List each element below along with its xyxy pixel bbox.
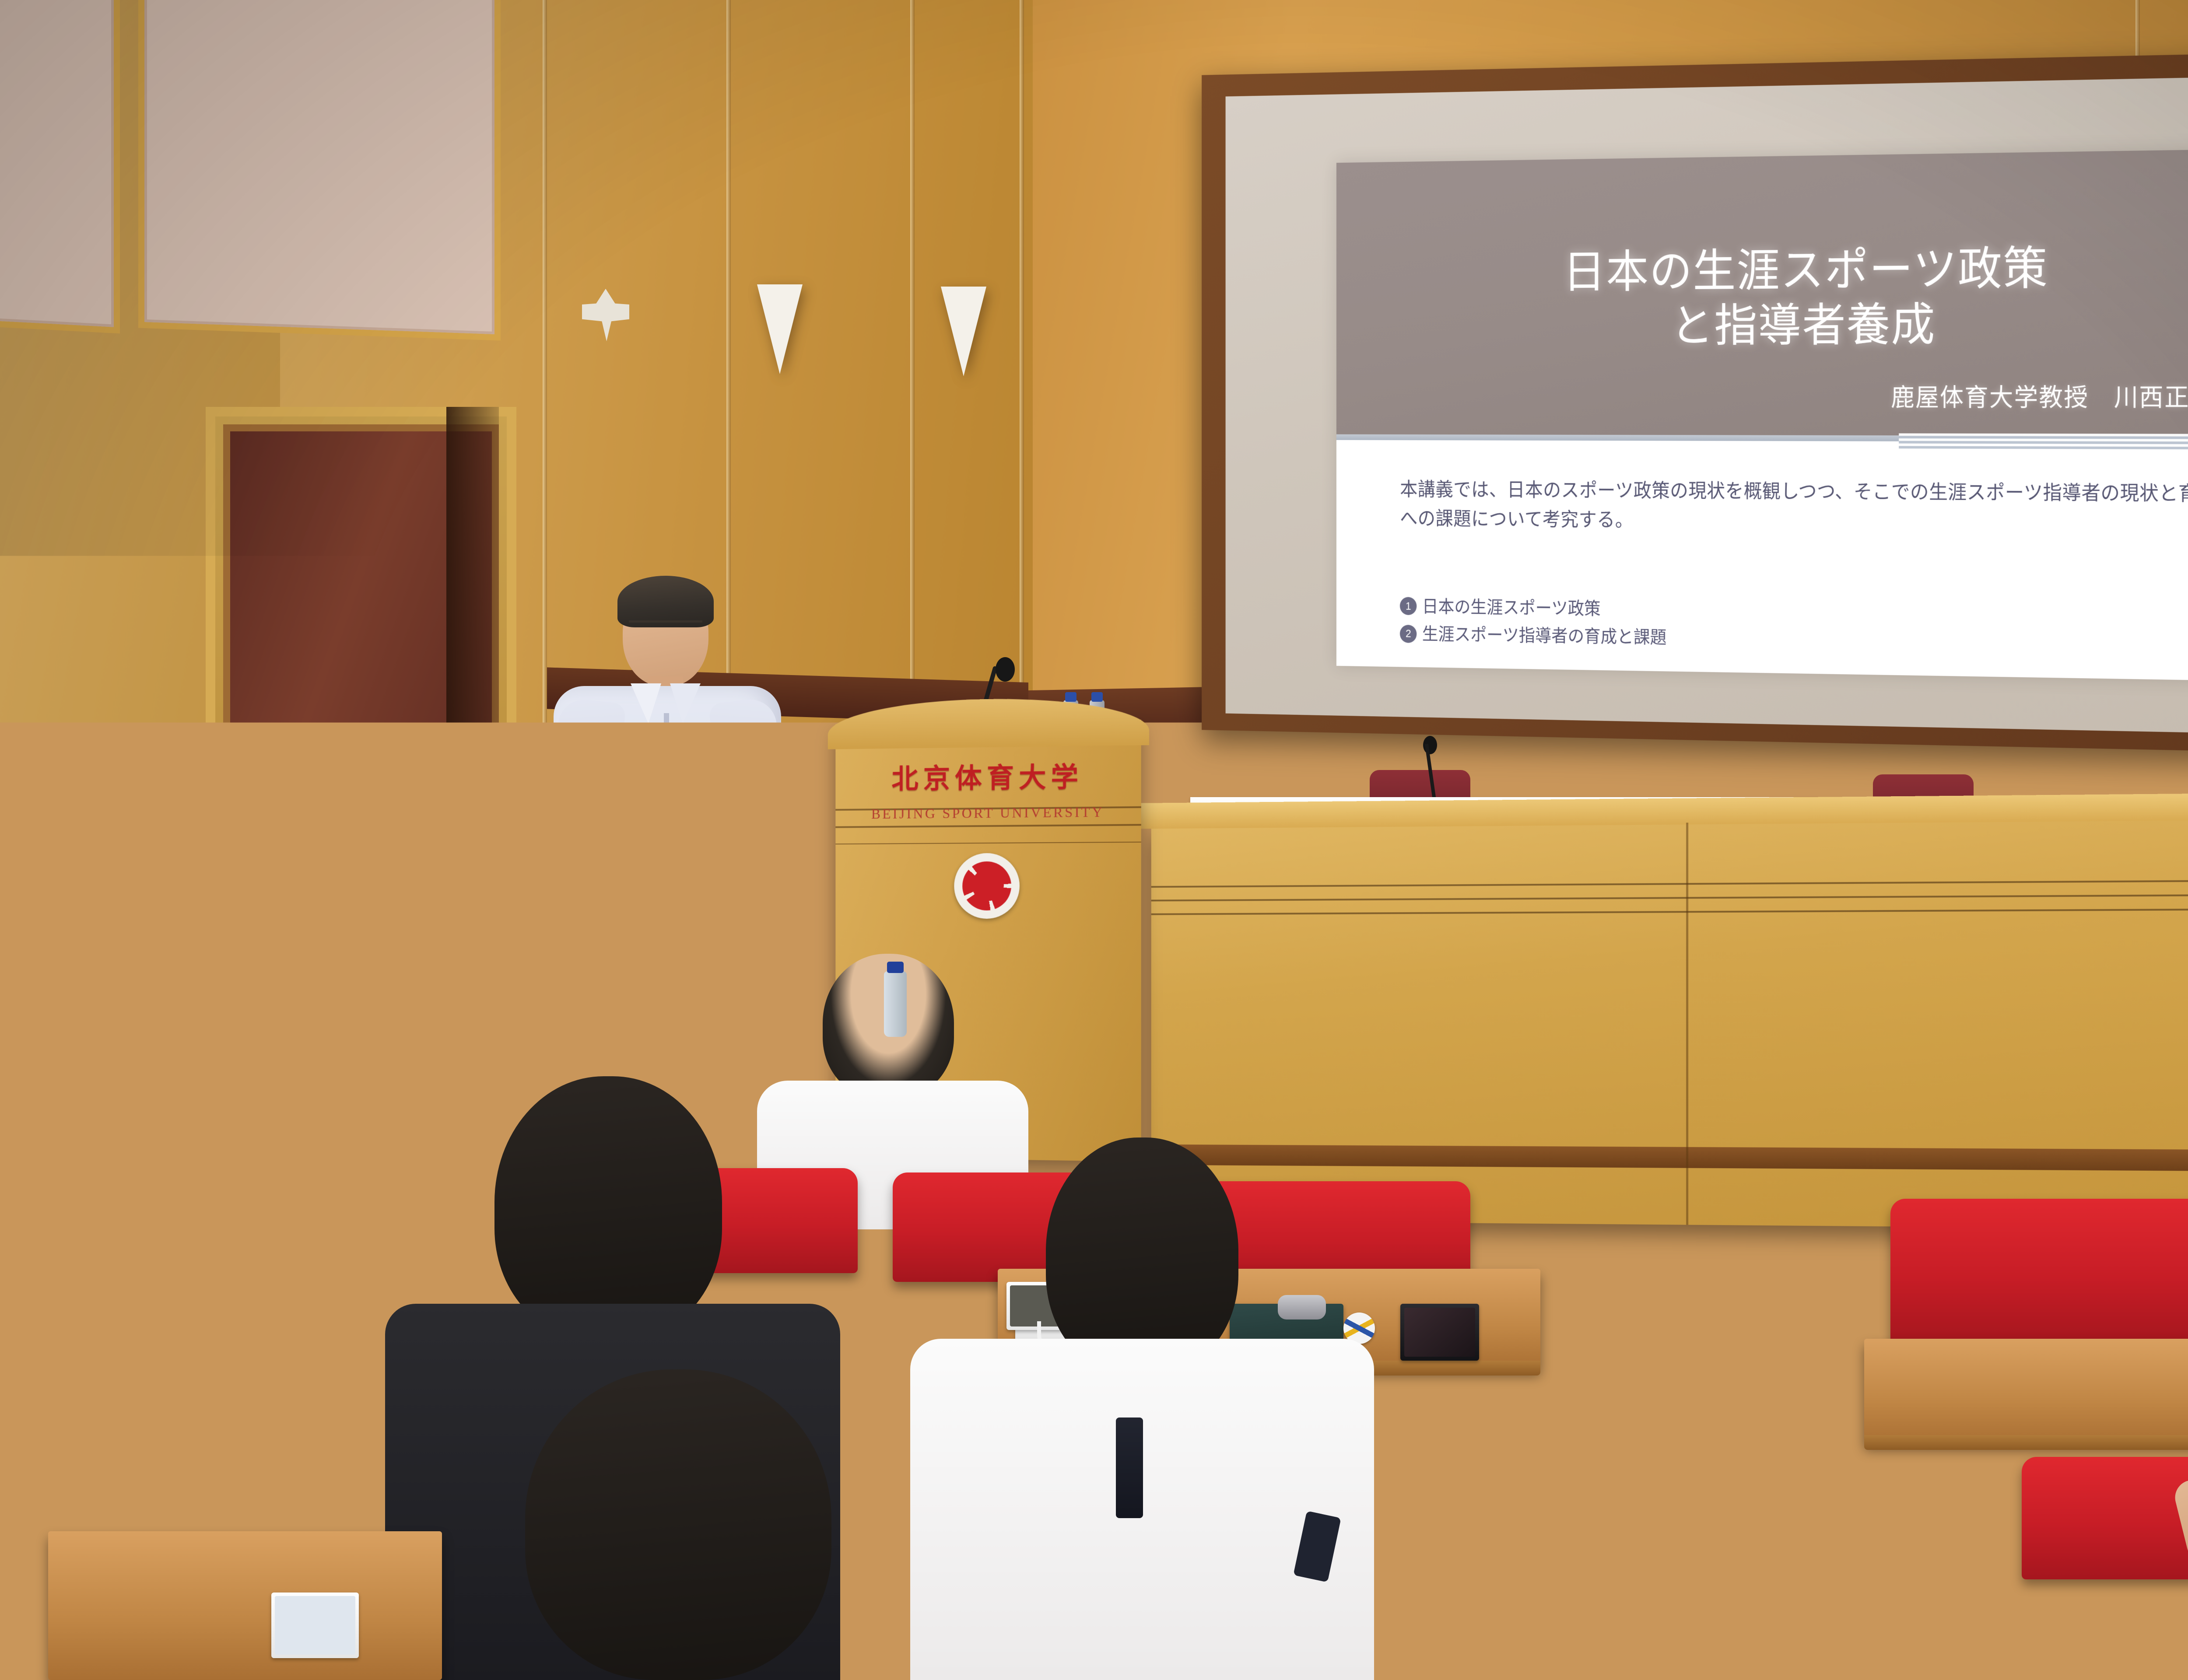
head-table-seam <box>1686 822 1688 1225</box>
audience-head <box>144 1002 302 1186</box>
divider-stripes-decoration <box>1899 433 2188 449</box>
presenter-trousers <box>594 914 741 1063</box>
slide-title: 日本の生涯スポーツ政策 と指導者養成 <box>1382 238 2188 355</box>
auditorium-seat[interactable] <box>1890 1199 2188 1343</box>
water-bottle <box>884 971 907 1037</box>
outline-item-label: 日本の生涯スポーツ政策 <box>1422 593 1601 623</box>
acoustic-panel-center <box>144 0 494 334</box>
podium-university-name-en: BEIJING SPORT UNIVERSITY <box>835 804 1141 822</box>
auditorium-seat[interactable] <box>866 1505 1400 1601</box>
lecture-hall-photo: 日本の生涯スポーツ政策 と指導者養成 鹿屋体育大学教授 川西正志 本講義では、日… <box>0 0 2188 1680</box>
audience-head <box>494 1076 722 1339</box>
audience-desk <box>48 1531 442 1680</box>
wall-sconce-icon <box>757 284 803 374</box>
presenter-hair <box>617 576 714 627</box>
phone-screen <box>275 1596 355 1655</box>
slide-abstract: 本講義では、日本のスポーツ政策の現状を概観しつつ、そこでの生涯スポーツ指導者の現… <box>1400 474 2188 539</box>
slide-author: 鹿屋体育大学教授 川西正志 <box>1891 377 2188 413</box>
slide-header: 日本の生涯スポーツ政策 と指導者養成 鹿屋体育大学教授 川西正志 <box>1336 148 2188 437</box>
slide-outline-list: 1 日本の生涯スポーツ政策 2 生涯スポーツ指導者の育成と課題 <box>1400 592 2188 660</box>
podium-university-name-cn: 北京体育大学 <box>835 754 1141 797</box>
auditorium-seat[interactable] <box>2022 1457 2188 1579</box>
audience-head <box>1046 1137 1238 1374</box>
door-shadow <box>446 407 499 980</box>
outline-number-badge: 2 <box>1400 625 1417 643</box>
black-phone[interactable] <box>1400 1304 1479 1361</box>
audience-head <box>486 976 578 1085</box>
slide-title-line-2: と指導者養成 <box>1382 295 2188 355</box>
outline-number-badge: 1 <box>1400 597 1417 616</box>
university-logo <box>954 853 1020 919</box>
phone-screen <box>1404 1308 1475 1357</box>
slide-title-line-1: 日本の生涯スポーツ政策 <box>1382 238 2188 301</box>
presenter-belt-buckle <box>654 913 679 927</box>
audience-desk <box>1864 1339 2188 1444</box>
head-table-grooves <box>1151 867 2188 915</box>
necktie <box>1116 1417 1143 1518</box>
presentation-slide: 日本の生涯スポーツ政策 と指導者養成 鹿屋体育大学教授 川西正志 本講義では、日… <box>1336 148 2188 682</box>
presenter-glasses-icon <box>629 620 702 636</box>
bottle-cap <box>1091 692 1103 702</box>
projection-screen-frame: 日本の生涯スポーツ政策 と指導者養成 鹿屋体育大学教授 川西正志 本講義では、日… <box>1202 48 2188 757</box>
podium-microphone-icon <box>996 657 1015 682</box>
white-phone[interactable] <box>271 1592 359 1658</box>
wall-sconce-icon <box>941 287 986 376</box>
swirl-emblem-icon <box>962 861 1011 910</box>
bottle-cap <box>1065 692 1076 702</box>
projection-screen-surface: 日本の生涯スポーツ政策 と指導者養成 鹿屋体育大学教授 川西正志 本講義では、日… <box>1226 72 2188 738</box>
outline-item-label: 生涯スポーツ指導者の育成と課題 <box>1422 620 1667 652</box>
audience-head <box>525 1369 831 1680</box>
audience-desk-edge <box>1864 1435 2188 1450</box>
bottle-cap <box>887 962 904 973</box>
acoustic-panel-left <box>0 0 114 327</box>
slide-body: 本講義では、日本のスポーツ政策の現状を概観しつつ、そこでの生涯スポーツ指導者の現… <box>1336 440 2188 682</box>
